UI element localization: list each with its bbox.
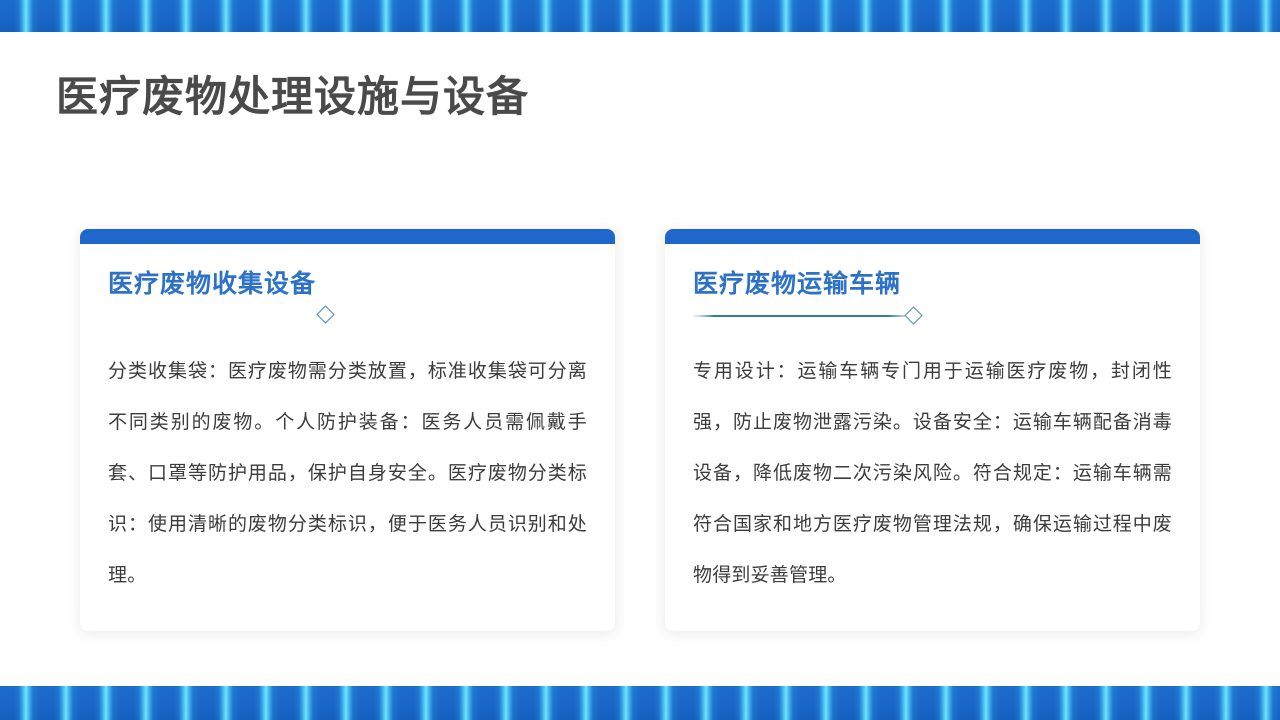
card-title-decoration [108,304,587,326]
top-decorative-stripe-bar [0,0,1280,32]
card-accent-topbar [665,229,1200,244]
card-title: 医疗废物收集设备 [108,270,587,300]
card-body: 医疗废物收集设备 分类收集袋：医疗废物需分类放置，标准收集袋可分离不同类别的废物… [80,244,615,631]
card-title: 医疗废物运输车辆 [693,270,1172,300]
content-cards-row: 医疗废物收集设备 分类收集袋：医疗废物需分类放置，标准收集袋可分离不同类别的废物… [80,229,1200,631]
diamond-icon [316,305,334,323]
bottom-decorative-stripe-bar [0,686,1280,720]
decoration-line [693,315,905,317]
diamond-icon [904,306,922,324]
card-medical-waste-transport-vehicle: 医疗废物运输车辆 专用设计：运输车辆专门用于运输医疗废物，封闭性强，防止废物泄露… [665,229,1200,631]
card-medical-waste-collection-equipment: 医疗废物收集设备 分类收集袋：医疗废物需分类放置，标准收集袋可分离不同类别的废物… [80,229,615,631]
page-title: 医疗废物处理设施与设备 [56,72,529,125]
card-body: 医疗废物运输车辆 专用设计：运输车辆专门用于运输医疗废物，封闭性强，防止废物泄露… [665,244,1200,631]
card-paragraph: 分类收集袋：医疗废物需分类放置，标准收集袋可分离不同类别的废物。个人防护装备：医… [108,346,587,601]
card-paragraph: 专用设计：运输车辆专门用于运输医疗废物，封闭性强，防止废物泄露污染。设备安全：运… [693,346,1172,601]
card-title-decoration [693,304,1172,326]
card-accent-topbar [80,229,615,244]
